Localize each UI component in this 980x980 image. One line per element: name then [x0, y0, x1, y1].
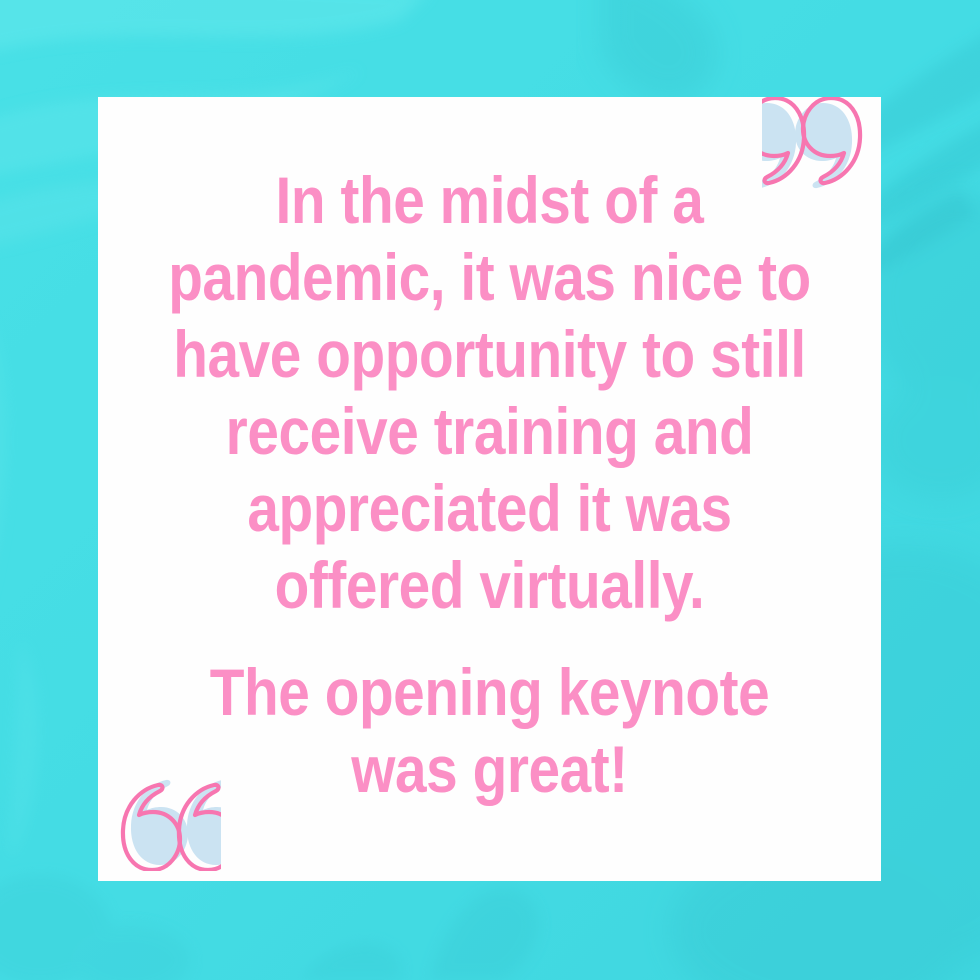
testimonial-paragraph-secondary: The opening keynote was great!	[165, 654, 814, 808]
testimonial-paragraph-main: In the midst of a pandemic, it was nice …	[165, 162, 814, 624]
quote-card: In the midst of a pandemic, it was nice …	[98, 97, 881, 881]
testimonial-text-block: In the midst of a pandemic, it was nice …	[98, 97, 881, 881]
